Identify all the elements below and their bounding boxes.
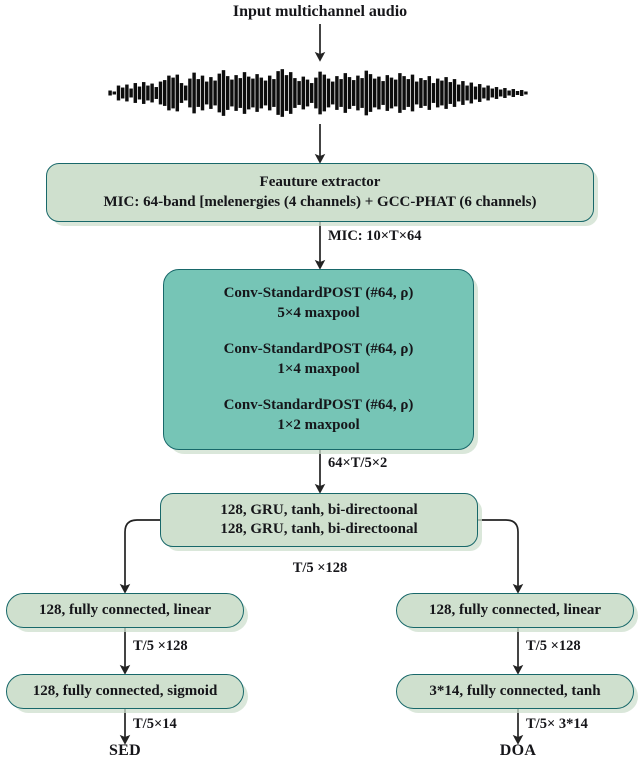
edge-label-sed-out: T/5×14 xyxy=(133,716,177,733)
gru-line-1: 128, GRU, tanh, bi-directoonal xyxy=(220,501,417,521)
network-architecture-diagram: Input multichannel audio xyxy=(0,0,640,765)
doa-fc-tanh-label: 3*14, fully connected, tanh xyxy=(429,682,600,702)
sed-fc-linear-label: 128, fully connected, linear xyxy=(39,601,211,621)
conv-group-3-pool: 1×2 maxpool xyxy=(224,416,414,436)
doa-fc-linear-label: 128, fully connected, linear xyxy=(429,601,601,621)
sed-output-label: SED xyxy=(65,742,185,760)
conv-group-1: Conv-StandardPOST (#64, ρ) 5×4 maxpool xyxy=(224,284,414,323)
edge-label-to-gru: 64×T/5×2 xyxy=(328,455,387,472)
audio-waveform xyxy=(108,66,528,120)
conv-group-2: Conv-StandardPOST (#64, ρ) 1×4 maxpool xyxy=(224,340,414,379)
doa-output-label: DOA xyxy=(458,742,578,760)
feature-extractor-box[interactable]: Feauture extractor MIC: 64-band [melener… xyxy=(46,163,594,222)
gru-block[interactable]: 128, GRU, tanh, bi-directoonal 128, GRU,… xyxy=(160,493,478,547)
edge-label-sed-mid: T/5 ×128 xyxy=(133,638,188,655)
feature-extractor-line-1: Feauture extractor xyxy=(260,173,381,193)
conv-group-1-title: Conv-StandardPOST (#64, ρ) xyxy=(224,284,414,304)
page-title: Input multichannel audio xyxy=(0,3,640,21)
conv-group-2-title: Conv-StandardPOST (#64, ρ) xyxy=(224,340,414,360)
conv-group-1-pool: 5×4 maxpool xyxy=(224,304,414,324)
edge-label-doa-mid: T/5 ×128 xyxy=(526,638,581,655)
conv-group-3: Conv-StandardPOST (#64, ρ) 1×2 maxpool xyxy=(224,396,414,435)
edge-label-doa-out: T/5× 3*14 xyxy=(526,716,588,733)
doa-fc-tanh-box[interactable]: 3*14, fully connected, tanh xyxy=(396,674,634,709)
sed-fc-linear-box[interactable]: 128, fully connected, linear xyxy=(6,593,244,628)
sed-fc-sigmoid-box[interactable]: 128, fully connected, sigmoid xyxy=(6,674,244,709)
sed-fc-sigmoid-label: 128, fully connected, sigmoid xyxy=(33,682,218,702)
arrow-gru-to-doa-branch xyxy=(478,520,518,592)
edge-label-gru-out: T/5 ×128 xyxy=(0,560,640,577)
feature-extractor-line-2: MIC: 64-band [melenergies (4 channels) +… xyxy=(104,193,537,213)
gru-line-2: 128, GRU, tanh, bi-directoonal xyxy=(220,520,417,540)
edge-label-to-conv: MIC: 10×T×64 xyxy=(328,228,421,245)
conv-group-3-title: Conv-StandardPOST (#64, ρ) xyxy=(224,396,414,416)
arrow-gru-to-sed-branch xyxy=(125,520,160,592)
doa-fc-linear-box[interactable]: 128, fully connected, linear xyxy=(396,593,634,628)
conv-block[interactable]: Conv-StandardPOST (#64, ρ) 5×4 maxpool C… xyxy=(163,269,474,450)
conv-group-2-pool: 1×4 maxpool xyxy=(224,360,414,380)
